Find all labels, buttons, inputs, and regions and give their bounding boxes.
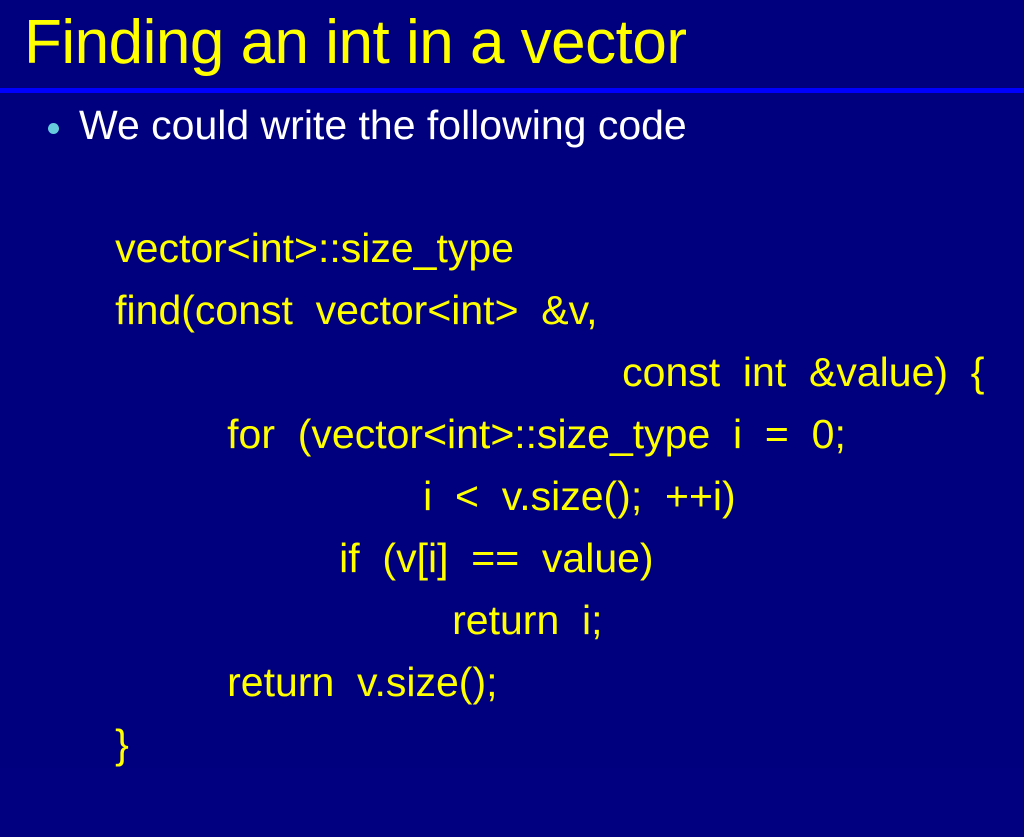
code-line: const int &value) {	[0, 279, 1024, 341]
code-line: vector<int>::size_type	[0, 155, 1024, 217]
page-title: Finding an int in a vector	[24, 2, 687, 84]
code-line: if (v[i] == value)	[0, 465, 1024, 527]
code-line: for (vector<int>::size_type i = 0;	[0, 341, 1024, 403]
code-block: vector<int>::size_type find(const vector…	[0, 155, 1024, 713]
bullet-dot-icon	[48, 123, 59, 134]
code-line: return i;	[0, 527, 1024, 589]
slide-body: We could write the following code vector…	[0, 93, 1024, 768]
list-item: We could write the following code	[24, 101, 1004, 153]
code-line: }	[0, 651, 1024, 713]
bullet-item-label: We could write the following code	[79, 99, 687, 151]
code-line: i < v.size(); ++i)	[0, 403, 1024, 465]
code-line: find(const vector<int> &v,	[0, 217, 1024, 279]
code-line-text: }	[115, 713, 129, 775]
slide-title-bar: Finding an int in a vector	[0, 0, 1024, 90]
presentation-slide: Finding an int in a vector We could writ…	[0, 0, 1024, 768]
code-line: return v.size();	[0, 589, 1024, 651]
